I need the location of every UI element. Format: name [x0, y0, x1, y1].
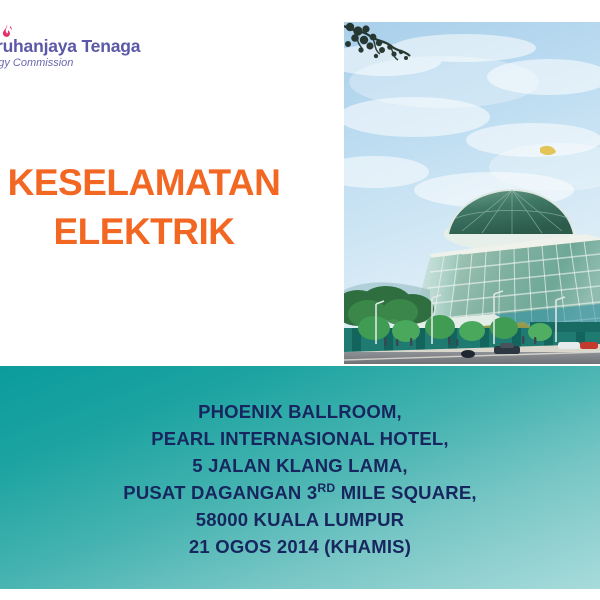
- venue-line-2: PEARL INTERNASIONAL HOTEL,: [0, 425, 600, 452]
- logo-subtitle-text: Energy Commission: [0, 58, 73, 69]
- venue-line-5: 58000 KUALA LUMPUR: [0, 506, 600, 533]
- venue-line-4-ordinal: RD: [317, 481, 335, 495]
- venue-line-4: PUSAT DAGANGAN 3RD MILE SQUARE,: [0, 479, 600, 506]
- venue-line-1: PHOENIX BALLROOM,: [0, 398, 600, 425]
- venue-line-3: 5 JALAN KLANG LAMA,: [0, 452, 600, 479]
- venue-line-6: 21 OGOS 2014 (KHAMIS): [0, 533, 600, 560]
- page-title-line-2: ELEKTRIK: [0, 207, 294, 256]
- venue-details: PHOENIX BALLROOM, PEARL INTERNASIONAL HO…: [0, 398, 600, 560]
- page-title-line-1: KESELAMATAN: [0, 158, 294, 207]
- venue-line-4-pre: PUSAT DAGANGAN 3: [123, 482, 317, 503]
- venue-line-4-post: MILE SQUARE,: [335, 482, 476, 503]
- hotel-building-photo: [344, 22, 600, 364]
- presentation-slide: Suruhanjaya Tenaga Energy Commission KES…: [0, 0, 600, 600]
- page-title: KESELAMATAN ELEKTRIK: [0, 158, 294, 256]
- suruhanjaya-tenaga-logo: Suruhanjaya Tenaga Energy Commission: [0, 24, 174, 76]
- logo-name-text: Suruhanjaya Tenaga: [0, 38, 140, 56]
